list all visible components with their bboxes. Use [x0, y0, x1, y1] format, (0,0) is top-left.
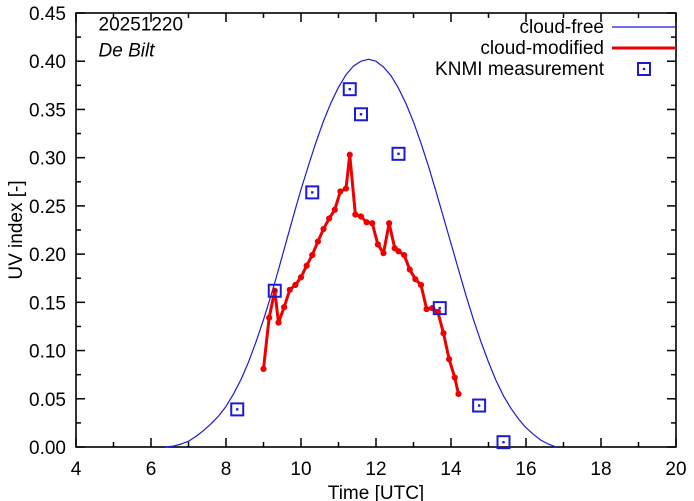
y-tick-label: 0.05 — [29, 390, 66, 411]
series-point — [412, 276, 418, 282]
station-annotation: De Bilt — [99, 40, 156, 61]
series-point — [292, 282, 298, 288]
series-point — [352, 211, 358, 217]
series-point — [440, 330, 446, 336]
series-point — [320, 226, 326, 232]
series-point — [401, 252, 407, 258]
series-point — [407, 266, 413, 272]
plot-canvas: 468101214161820Time [UTC]0.000.050.100.1… — [0, 0, 694, 501]
series-point — [369, 220, 375, 226]
measurement-marker-dot — [439, 307, 441, 309]
series-point — [287, 287, 293, 293]
legend-swatch-dot — [643, 68, 645, 70]
x-tick-label: 12 — [365, 459, 386, 480]
series-point — [332, 207, 338, 213]
legend-label: cloud-free — [520, 17, 605, 38]
x-tick-label: 6 — [146, 459, 157, 480]
series-point — [380, 250, 386, 256]
measurement-marker-dot — [360, 113, 362, 115]
series-point — [424, 306, 430, 312]
x-tick-label: 16 — [515, 459, 536, 480]
series-point — [309, 252, 315, 258]
series-point — [326, 215, 332, 221]
measurement-marker-dot — [311, 191, 313, 193]
series-line-cloud-modified — [264, 155, 459, 394]
series-point — [455, 391, 461, 397]
series-point — [395, 248, 401, 254]
series-point — [298, 274, 304, 280]
series-line-cloud-free — [166, 59, 556, 447]
x-axis-label: Time [UTC] — [328, 483, 424, 501]
series-point — [418, 282, 424, 288]
y-tick-label: 0.25 — [29, 197, 66, 218]
series-point — [343, 185, 349, 191]
y-tick-label: 0.45 — [29, 4, 66, 25]
series-point — [315, 238, 321, 244]
series-point — [337, 188, 343, 194]
series-point — [281, 304, 287, 310]
x-tick-label: 20 — [665, 459, 686, 480]
y-tick-label: 0.30 — [29, 149, 66, 170]
x-tick-label: 4 — [71, 459, 82, 480]
y-tick-label: 0.00 — [29, 438, 66, 459]
series-point — [304, 263, 310, 269]
series-point — [386, 220, 392, 226]
measurement-marker-dot — [274, 290, 276, 292]
date-annotation: 20251220 — [99, 14, 184, 35]
y-tick-label: 0.10 — [29, 342, 66, 363]
y-tick-label: 0.40 — [29, 52, 66, 73]
series-point — [446, 356, 452, 362]
series-point — [452, 374, 458, 380]
measurement-marker-dot — [502, 441, 504, 443]
y-axis-label: UV index [-] — [6, 180, 27, 279]
y-tick-label: 0.20 — [29, 245, 66, 266]
x-tick-label: 18 — [590, 459, 611, 480]
series-point — [260, 366, 266, 372]
legend-label: cloud-modified — [480, 38, 604, 59]
measurement-marker-dot — [349, 88, 351, 90]
x-tick-label: 10 — [290, 459, 311, 480]
series-point — [266, 315, 272, 321]
measurement-marker-dot — [236, 408, 238, 410]
measurement-marker-dot — [478, 404, 480, 406]
y-tick-label: 0.15 — [29, 293, 66, 314]
legend-label: KNMI measurement — [435, 59, 605, 80]
series-point — [347, 152, 353, 158]
series-point — [364, 219, 370, 225]
series-point — [358, 213, 364, 219]
uv-index-chart: 468101214161820Time [UTC]0.000.050.100.1… — [0, 0, 694, 501]
series-point — [275, 319, 281, 325]
x-tick-label: 8 — [221, 459, 232, 480]
series-point — [375, 241, 381, 247]
y-tick-label: 0.35 — [29, 100, 66, 121]
x-tick-label: 14 — [440, 459, 462, 480]
measurement-marker-dot — [397, 153, 399, 155]
